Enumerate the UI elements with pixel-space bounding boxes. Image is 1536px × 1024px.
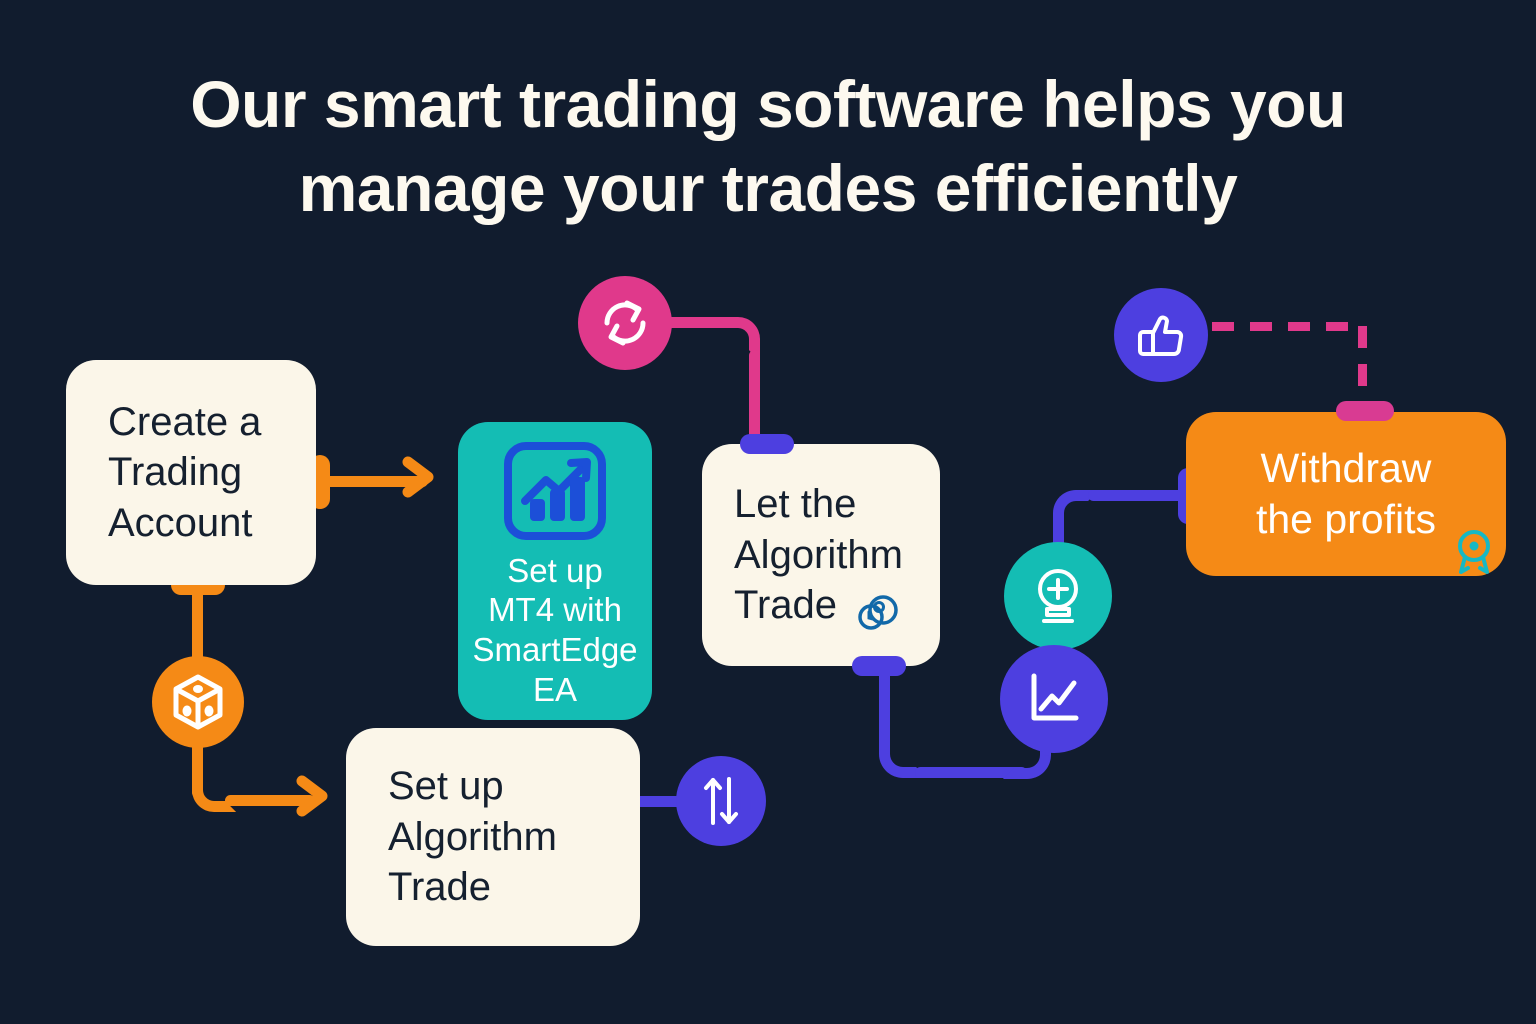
cube-icon [170,673,226,731]
lightbulb-plus-icon [1029,565,1087,627]
line-chart-icon [1025,671,1083,727]
node-thumbs-up[interactable] [1114,288,1208,382]
step-card-let-algorithm-trade[interactable]: Let the Algorithm Trade [702,444,940,666]
refresh-sync-icon [597,295,653,351]
node-line-chart[interactable] [1000,645,1108,753]
step-card-withdraw-profits[interactable]: Withdraw the profits [1186,412,1506,576]
title-line-2: manage your trades efficiently [0,146,1536,230]
swap-arrows-icon [697,775,745,827]
step-card-setup-mt4[interactable]: Set up MT4 with SmartEdge EA [458,422,652,720]
connector-dashed-horizontal [1212,322,1360,331]
step-label: Create a Trading Account [108,397,316,548]
card-nub-top [1336,401,1394,421]
step-card-create-account[interactable]: Create a Trading Account [66,360,316,585]
step-label: Let the Algorithm Trade [734,479,940,630]
arrowhead-icon [296,775,336,817]
step-label: Set up Algorithm Trade [388,761,640,912]
node-swap[interactable] [676,756,766,846]
step-label: Set up MT4 with SmartEdge EA [472,551,637,709]
node-lightbulb[interactable] [1004,542,1112,650]
connector-dashed-vertical [1358,326,1367,408]
thumbs-up-icon [1134,308,1188,362]
node-sync[interactable] [578,276,672,370]
node-cube[interactable] [152,656,244,748]
step-card-setup-algorithm-trade[interactable]: Set up Algorithm Trade [346,728,640,946]
title-line-1: Our smart trading software helps you [0,62,1536,146]
page-title: Our smart trading software helps you man… [0,62,1536,231]
infographic-canvas: Our smart trading software helps you man… [0,0,1536,1024]
award-badge-icon [1450,526,1498,576]
arrowhead-icon [402,456,442,498]
card-nub-top [740,434,794,454]
coins-loop-icon [856,590,900,634]
step-label: Withdraw the profits [1256,443,1436,546]
card-nub-bottom [852,656,906,676]
growth-chart-icon [501,439,609,543]
connector-segment-vertical [192,585,203,663]
